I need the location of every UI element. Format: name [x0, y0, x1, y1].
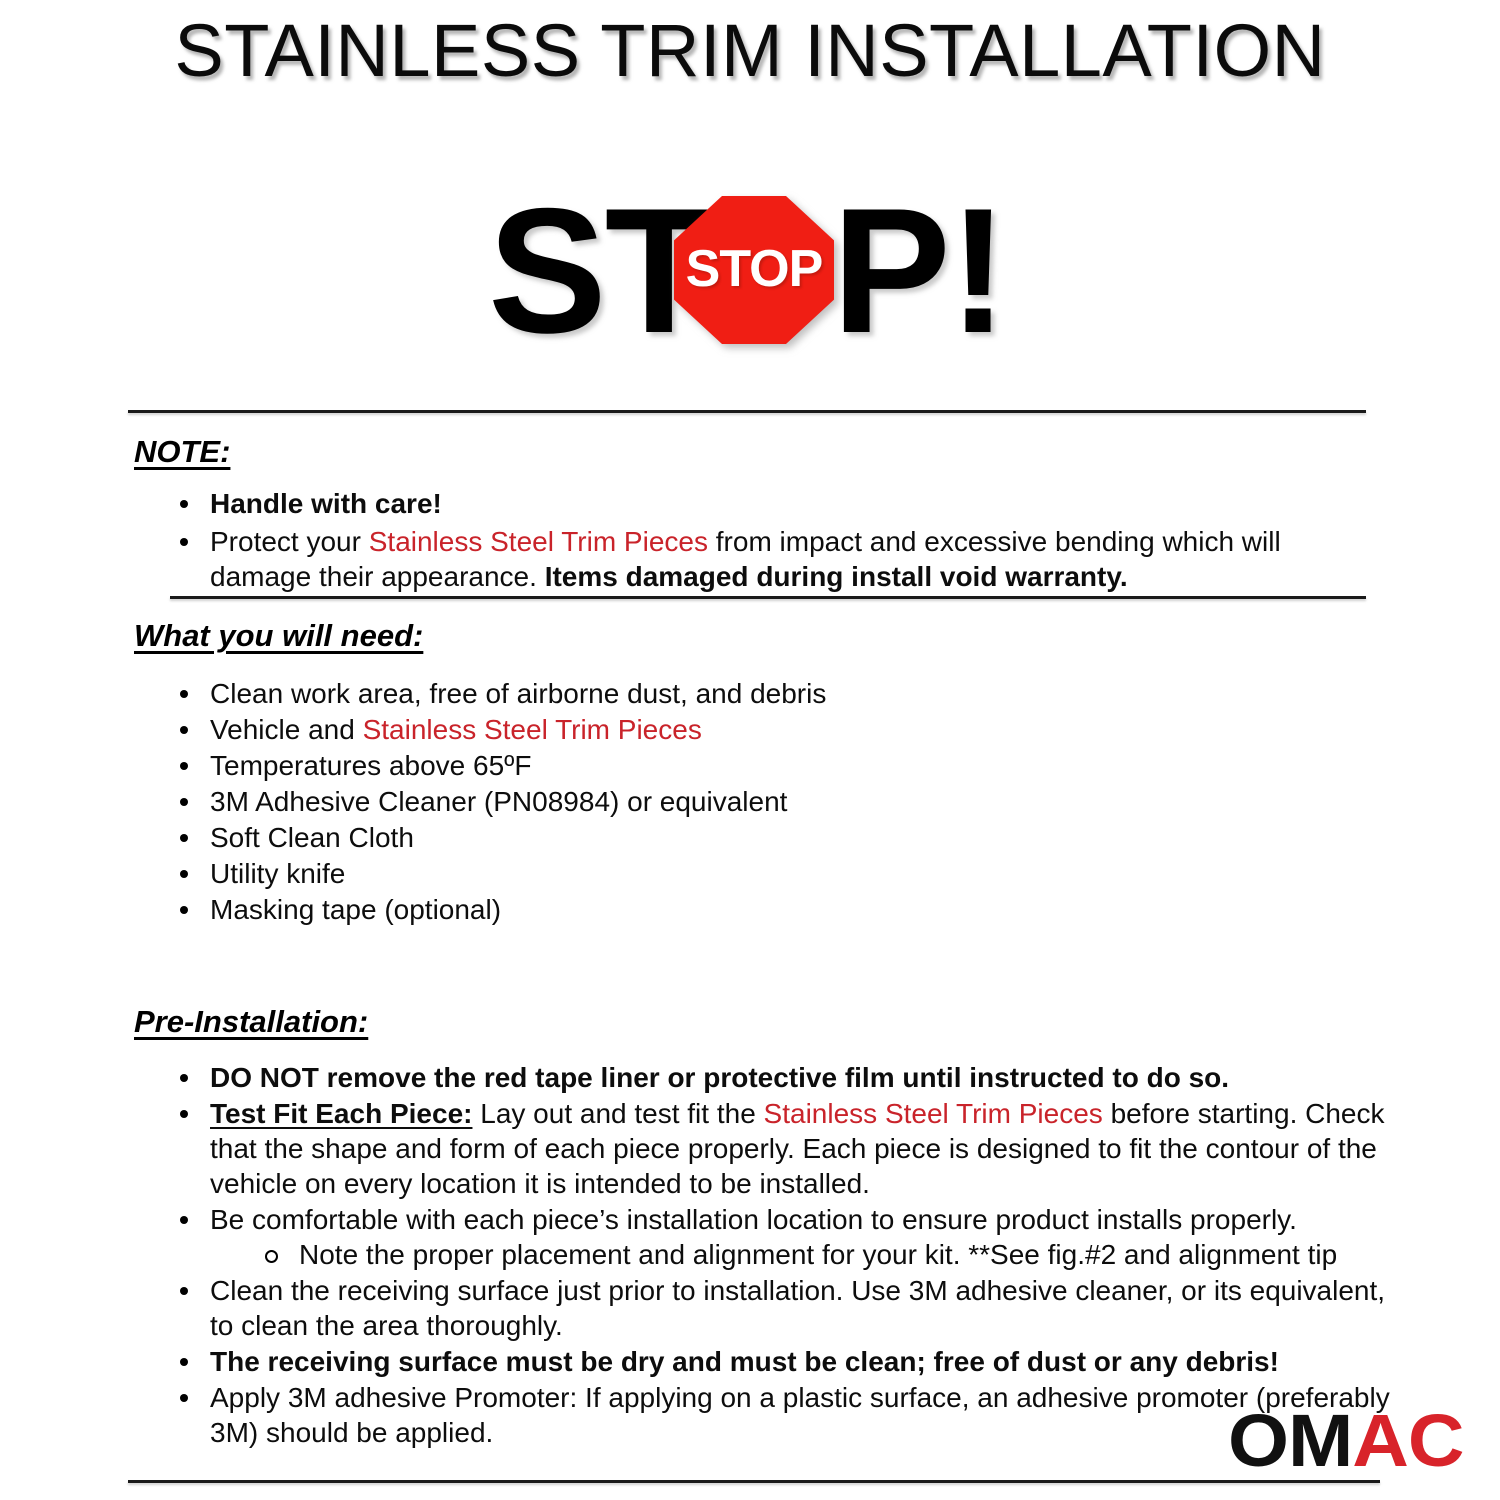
list-item: Temperatures above 65ºF: [178, 748, 1388, 783]
list-item: Soft Clean Cloth: [178, 820, 1388, 855]
stop-sign-label: STOP: [674, 243, 834, 295]
list-item: The receiving surface must be dry and mu…: [178, 1344, 1398, 1379]
text-run: Vehicle and: [210, 714, 363, 745]
text-run: Note the proper placement and alignment …: [299, 1239, 1337, 1270]
list-item: Test Fit Each Piece: Lay out and test fi…: [178, 1096, 1398, 1201]
omac-logo-dark-text: OM: [1228, 1399, 1352, 1482]
text-run: Masking tape (optional): [210, 894, 501, 925]
stop-graphic: ST STOP P!: [488, 182, 988, 360]
pre-installation-bullet-list: DO NOT remove the red tape liner or prot…: [178, 1060, 1398, 1451]
text-run: 3M Adhesive Cleaner (PN08984) or equival…: [210, 786, 787, 817]
text-run: Protect your: [210, 526, 369, 557]
text-run: Clean work area, free of airborne dust, …: [210, 678, 826, 709]
text-run: Test Fit Each Piece:: [210, 1098, 472, 1129]
text-run: DO NOT remove the red tape liner or prot…: [210, 1062, 1229, 1093]
divider-bottom: [128, 1480, 1380, 1483]
list-item: DO NOT remove the red tape liner or prot…: [178, 1060, 1398, 1095]
text-run: Temperatures above 65ºF: [210, 750, 532, 781]
text-run: Items damaged during install void warran…: [545, 561, 1128, 592]
text-run: Stainless Steel Trim Pieces: [363, 714, 702, 745]
text-run: The receiving surface must be dry and mu…: [210, 1346, 1279, 1377]
sub-bullet-list: Note the proper placement and alignment …: [210, 1237, 1398, 1272]
text-run: Clean the receiving surface just prior t…: [210, 1275, 1385, 1341]
text-run: Handle with care!: [210, 488, 442, 519]
list-item: Clean the receiving surface just prior t…: [178, 1273, 1398, 1343]
list-item: Be comfortable with each piece’s install…: [178, 1202, 1398, 1272]
stop-sign-icon: STOP: [674, 196, 834, 344]
section-heading-note: NOTE:: [134, 434, 230, 470]
list-item: Clean work area, free of airborne dust, …: [178, 676, 1388, 711]
divider-top: [128, 410, 1366, 413]
omac-logo-red-text: AC: [1352, 1399, 1463, 1482]
section-heading-needs: What you will need:: [134, 618, 423, 654]
list-item: Masking tape (optional): [178, 892, 1388, 927]
list-item: 3M Adhesive Cleaner (PN08984) or equival…: [178, 784, 1388, 819]
text-run: Be comfortable with each piece’s install…: [210, 1204, 1297, 1235]
note-bullet-list: Handle with care!Protect your Stainless …: [178, 486, 1388, 597]
list-item: Vehicle and Stainless Steel Trim Pieces: [178, 712, 1388, 747]
text-run: Soft Clean Cloth: [210, 822, 414, 853]
sub-list-item: Note the proper placement and alignment …: [263, 1237, 1398, 1272]
text-run: Stainless Steel Trim Pieces: [764, 1098, 1103, 1129]
needs-bullet-list: Clean work area, free of airborne dust, …: [178, 676, 1388, 928]
page-title: STAINLESS TRIM INSTALLATION: [0, 8, 1500, 93]
section-heading-pre-installation: Pre-Installation:: [134, 1004, 368, 1040]
list-item: Handle with care!: [178, 486, 1388, 521]
list-item: Protect your Stainless Steel Trim Pieces…: [178, 524, 1388, 594]
list-item: Utility knife: [178, 856, 1388, 891]
stop-graphic-right-letters: P!: [832, 182, 1006, 360]
omac-logo: OMAC: [1228, 1404, 1463, 1478]
text-run: Lay out and test fit the: [472, 1098, 763, 1129]
list-item: Apply 3M adhesive Promoter: If applying …: [178, 1380, 1398, 1450]
document-page: STAINLESS TRIM INSTALLATION ST STOP P! N…: [0, 0, 1500, 1500]
text-run: Apply 3M adhesive Promoter: If applying …: [210, 1382, 1390, 1448]
text-run: Utility knife: [210, 858, 345, 889]
text-run: Stainless Steel Trim Pieces: [369, 526, 708, 557]
